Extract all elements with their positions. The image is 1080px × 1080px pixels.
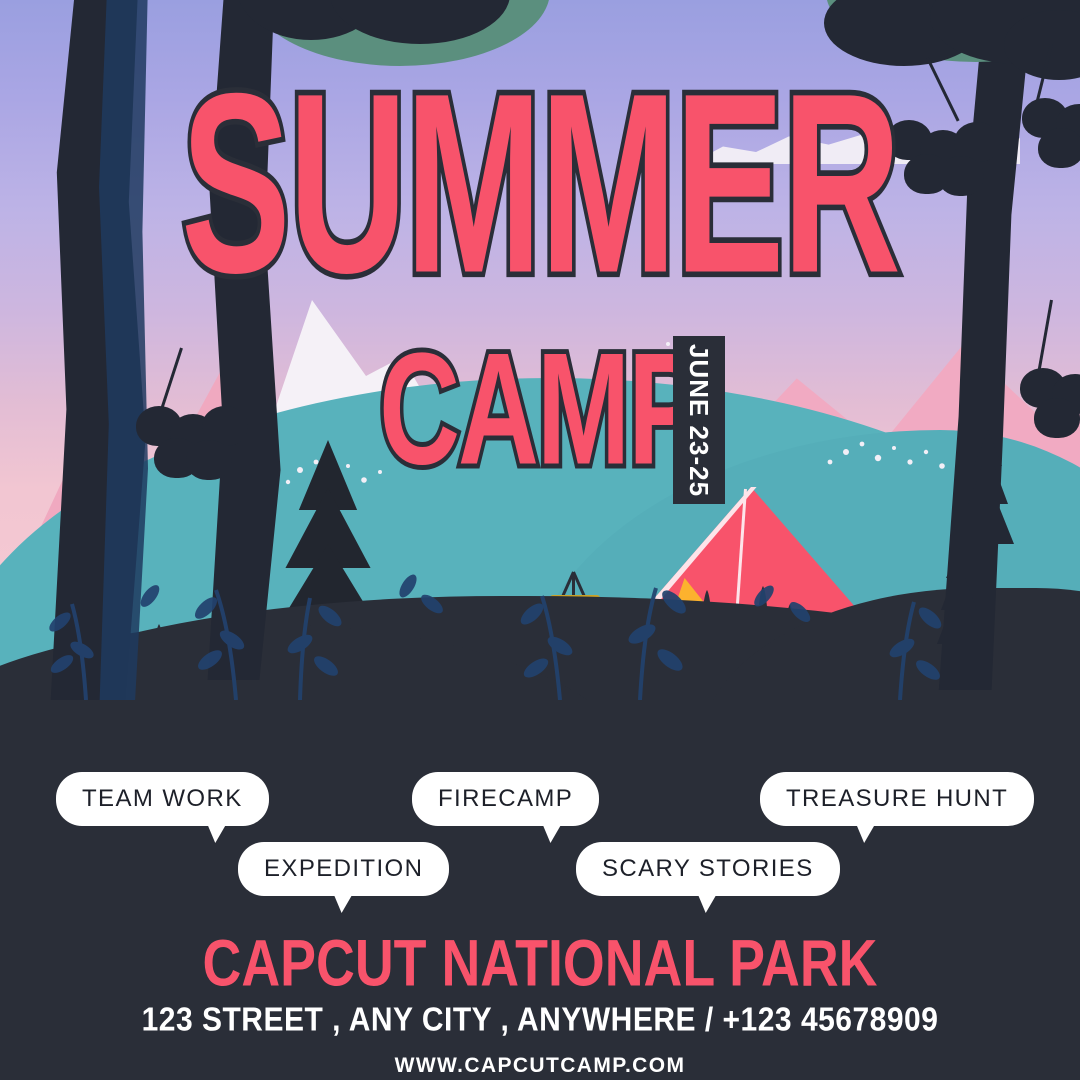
address-line: 123 STREET , ANY CITY , ANYWHERE / +123 … [0, 1002, 1080, 1039]
activity-tags: TEAM WORK FIRECAMP TREASURE HUNT EXPEDIT… [0, 760, 1080, 920]
activity-tag-label: TEAM WORK [82, 785, 243, 813]
activity-tag-label: SCARY STORIES [602, 855, 814, 883]
park-name: CAPCUT NATIONAL PARK [22, 930, 1059, 996]
activity-tag-treasure-hunt[interactable]: TREASURE HUNT [760, 772, 1034, 826]
website-url[interactable]: WWW.CAPCUTCAMP.COM [0, 1054, 1080, 1078]
headline-block: SUMMER CAMP JUNE 23-25 [0, 0, 1080, 520]
activity-tag-scary-stories[interactable]: SCARY STORIES [576, 842, 840, 896]
activity-tag-label: TREASURE HUNT [786, 785, 1008, 813]
summer-camp-poster: SUMMER CAMP JUNE 23-25 TEAM WORK FIRECAM… [0, 0, 1080, 1080]
activity-tag-expedition[interactable]: EXPEDITION [238, 842, 449, 896]
activity-tag-label: EXPEDITION [264, 855, 423, 883]
footer-block: CAPCUT NATIONAL PARK 123 STREET , ANY CI… [0, 930, 1080, 1078]
date-badge-label: JUNE 23-25 [684, 343, 715, 496]
headline-summer: SUMMER [181, 56, 899, 312]
activity-tag-team-work[interactable]: TEAM WORK [56, 772, 269, 826]
headline-camp: CAMP [379, 330, 701, 489]
activity-tag-firecamp[interactable]: FIRECAMP [412, 772, 599, 826]
date-badge: JUNE 23-25 [673, 336, 725, 504]
activity-tag-label: FIRECAMP [438, 785, 573, 813]
